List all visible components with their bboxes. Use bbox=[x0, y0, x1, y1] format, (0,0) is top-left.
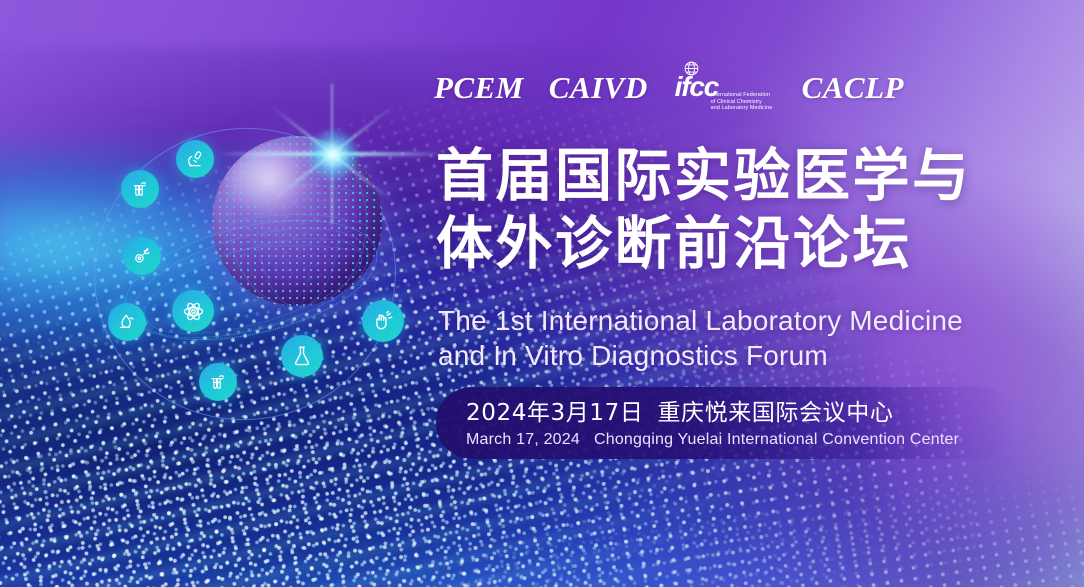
venue-english: Chongqing Yuelai International Conventio… bbox=[594, 431, 959, 448]
ifcc-subtitle: International Federation of Clinical Che… bbox=[711, 92, 773, 112]
gloved-hand-icon bbox=[362, 300, 404, 342]
title-chinese-line-2: 体外诊断前沿论坛 bbox=[436, 210, 1036, 278]
date-chinese: 2024年3月17日 bbox=[466, 400, 643, 426]
date-venue-english: March 17, 2024Chongqing Yuelai Internati… bbox=[466, 430, 959, 450]
conference-banner: PCEM CAIVD ifcc International Federation… bbox=[0, 0, 1084, 587]
ifcc-subtitle-line-2: of Clinical Chemistry bbox=[711, 99, 762, 105]
title-english: The 1st International Laboratory Medicin… bbox=[438, 303, 1028, 373]
water-drop-icon bbox=[108, 303, 146, 341]
logo-row: PCEM CAIVD ifcc International Federation… bbox=[434, 60, 904, 114]
test-tube-rack-icon-2 bbox=[199, 363, 237, 401]
logo-ifcc: ifcc International Federation of Clinica… bbox=[673, 60, 777, 114]
date-venue-pill: 2024年3月17日重庆悦来国际会议中心 March 17, 2024Chong… bbox=[436, 387, 1016, 459]
wave-dots-layer-d bbox=[401, 443, 1084, 587]
title-chinese: 首届国际实验医学与 体外诊断前沿论坛 bbox=[436, 142, 1036, 278]
title-english-line-2: and In Vitro Diagnostics Forum bbox=[438, 338, 1028, 373]
microscope-icon bbox=[176, 140, 214, 178]
flask-icon bbox=[281, 335, 323, 377]
globe-specular-highlight bbox=[226, 146, 325, 221]
date-venue-chinese: 2024年3月17日重庆悦来国际会议中心 bbox=[466, 399, 893, 427]
atom-icon bbox=[172, 290, 214, 332]
venue-chinese: 重庆悦来国际会议中心 bbox=[657, 400, 893, 426]
title-english-line-1: The 1st International Laboratory Medicin… bbox=[438, 303, 1028, 338]
date-english: March 17, 2024 bbox=[466, 431, 580, 448]
logo-caivd: CAIVD bbox=[549, 72, 648, 103]
dna-cell-icon bbox=[123, 237, 161, 275]
ifcc-subtitle-line-3: and Laboratory Medicine bbox=[711, 105, 773, 111]
title-chinese-line-1: 首届国际实验医学与 bbox=[436, 142, 1036, 210]
logo-caclp: CACLP bbox=[802, 72, 904, 103]
logo-pcem: PCEM bbox=[434, 72, 524, 103]
ifcc-subtitle-line-1: International Federation bbox=[711, 92, 770, 98]
test-tube-rack-icon bbox=[121, 170, 159, 208]
